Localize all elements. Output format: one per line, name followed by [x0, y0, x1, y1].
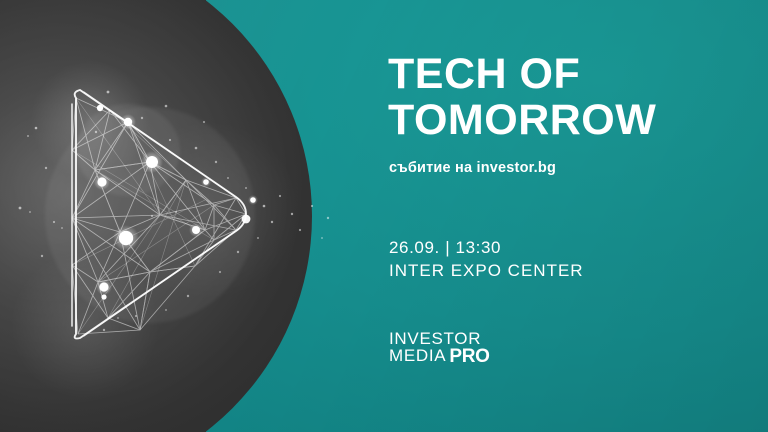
event-date-time: 26.09. | 13:30 [389, 236, 584, 259]
event-details: 26.09. | 13:30 INTER EXPO CENTER [389, 236, 584, 282]
event-poster: TECH OF TOMORROW събитие на investor.bg … [0, 0, 768, 432]
logo-word-investor: INVESTOR [389, 330, 481, 347]
event-venue: INTER EXPO CENTER [389, 259, 584, 282]
poster-content: TECH OF TOMORROW събитие на investor.bg … [388, 0, 768, 432]
network-play-button-wireframe [0, 0, 340, 432]
page-title-line-1: TECH OF [388, 52, 580, 97]
logo-word-media: MEDIA [389, 347, 446, 364]
logo-row-bottom: MEDIA PRO [389, 347, 490, 364]
logo-row-top: INVESTOR [389, 330, 490, 347]
investor-media-pro-logo: INVESTOR MEDIA PRO [389, 330, 490, 364]
page-title-line-2: TOMORROW [388, 98, 656, 143]
logo-word-pro: PRO [449, 348, 489, 365]
subtitle: събитие на investor.bg [389, 160, 556, 176]
